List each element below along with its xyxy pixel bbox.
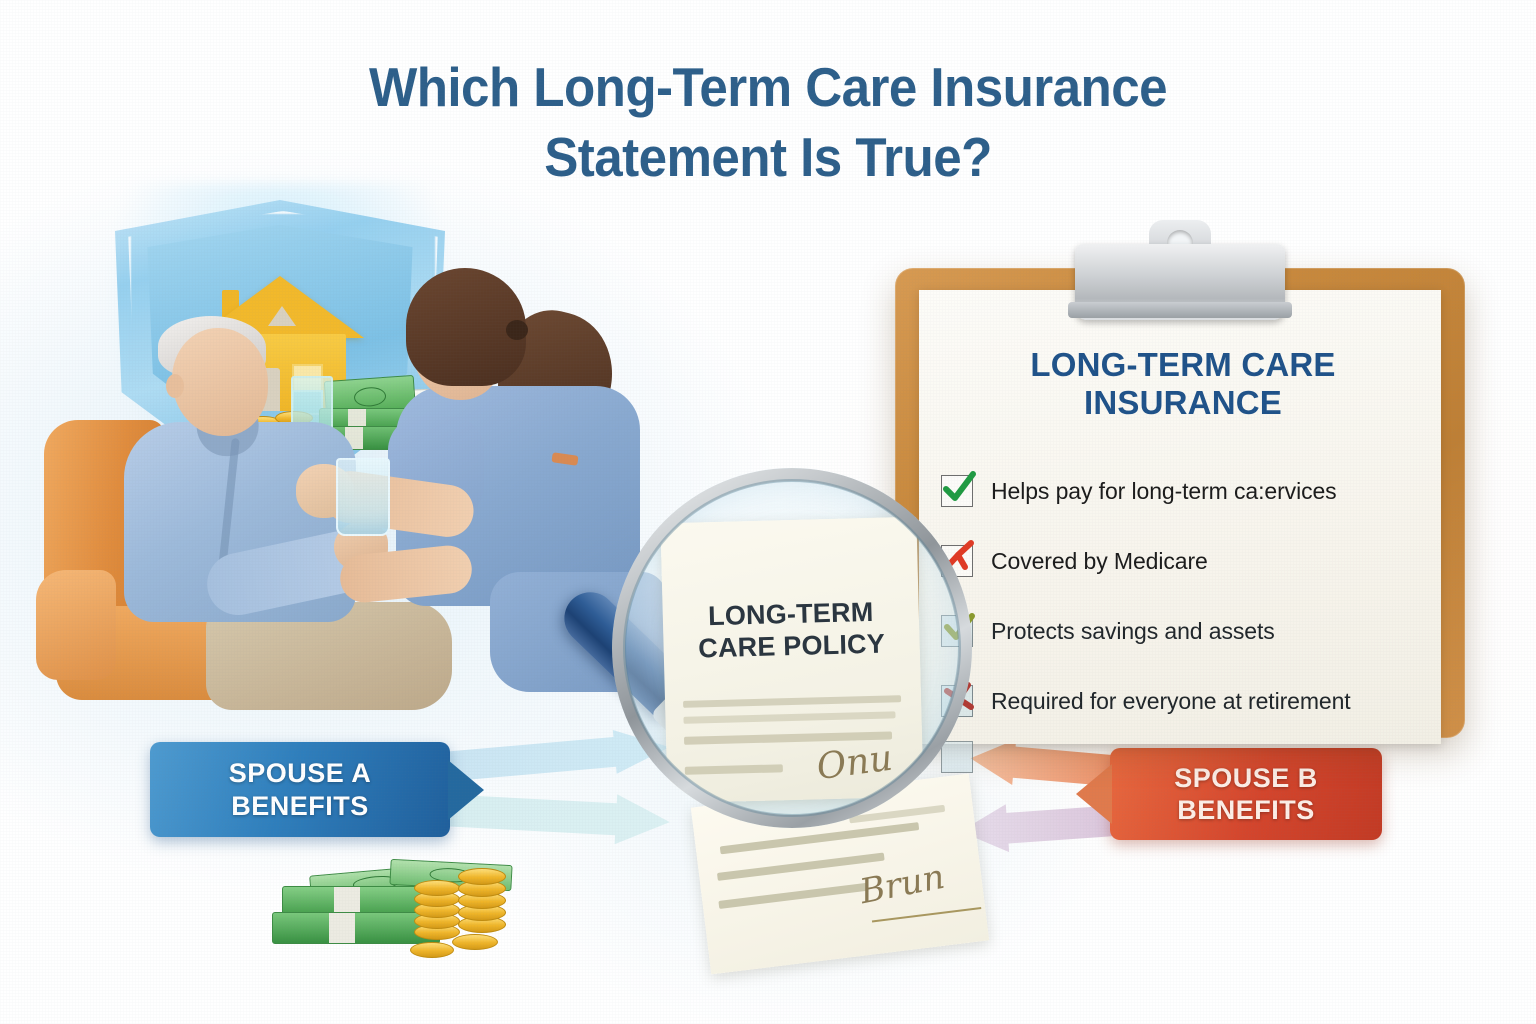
checklist-item-label: Covered by Medicare <box>991 548 1208 575</box>
checklist-item-label: Required for everyone at retirement <box>991 688 1351 715</box>
signature: Brun <box>857 857 948 912</box>
clipboard-heading-line-2: INSURANCE <box>935 384 1431 422</box>
clipboard-clip-lip <box>1068 302 1292 318</box>
signature-line <box>872 907 981 922</box>
spouse-a-line-2: BENEFITS <box>150 790 450 822</box>
title-line-2: Statement Is True? <box>54 122 1482 192</box>
clipboard-heading: LONG-TERM CARE INSURANCE <box>935 346 1431 423</box>
caregiving-scene <box>20 190 640 710</box>
nurse-hair-tie <box>506 320 528 340</box>
checklist-item[interactable]: Protects savings and assets <box>941 596 1445 666</box>
title-line-1: Which Long-Term Care Insurance <box>369 56 1167 118</box>
magnifier-inner-rim <box>623 479 961 817</box>
checklist: Helps pay for long-term ca:ervices Cover… <box>941 456 1445 778</box>
infographic-canvas: Which Long-Term Care Insurance Statement… <box>0 0 1536 1024</box>
checklist-item[interactable]: Helps pay for long-term ca:ervices <box>941 456 1445 526</box>
man-head <box>172 328 268 436</box>
clipboard: LONG-TERM CARE INSURANCE Helps pay for l… <box>895 268 1465 738</box>
clipboard-clip-body <box>1075 244 1285 320</box>
water-glass-icon <box>336 458 390 536</box>
spouse-a-benefits-banner[interactable]: SPOUSE A BENEFITS <box>150 742 450 837</box>
checklist-item[interactable] <box>941 736 1445 778</box>
checklist-item-label: Helps pay for long-term ca:ervices <box>991 478 1337 505</box>
clipboard-heading-line-1: LONG-TERM CARE <box>1030 346 1335 383</box>
checklist-item-label: Protects savings and assets <box>991 618 1275 645</box>
doc-text-line <box>718 883 868 909</box>
page-title: Which Long-Term Care Insurance Statement… <box>54 52 1482 193</box>
money-pile <box>262 850 522 970</box>
checklist-item[interactable]: Covered by Medicare <box>941 526 1445 596</box>
man-ear <box>166 374 184 398</box>
checklist-item[interactable]: Required for everyone at retirement <box>941 666 1445 736</box>
spouse-a-line-1: SPOUSE A <box>150 757 450 789</box>
chair-arm-left <box>36 570 116 680</box>
magnifying-glass-icon: LONG-TERM CARE POLICY Onu <box>612 468 972 828</box>
spouse-b-line-2: BENEFITS <box>1110 794 1382 826</box>
